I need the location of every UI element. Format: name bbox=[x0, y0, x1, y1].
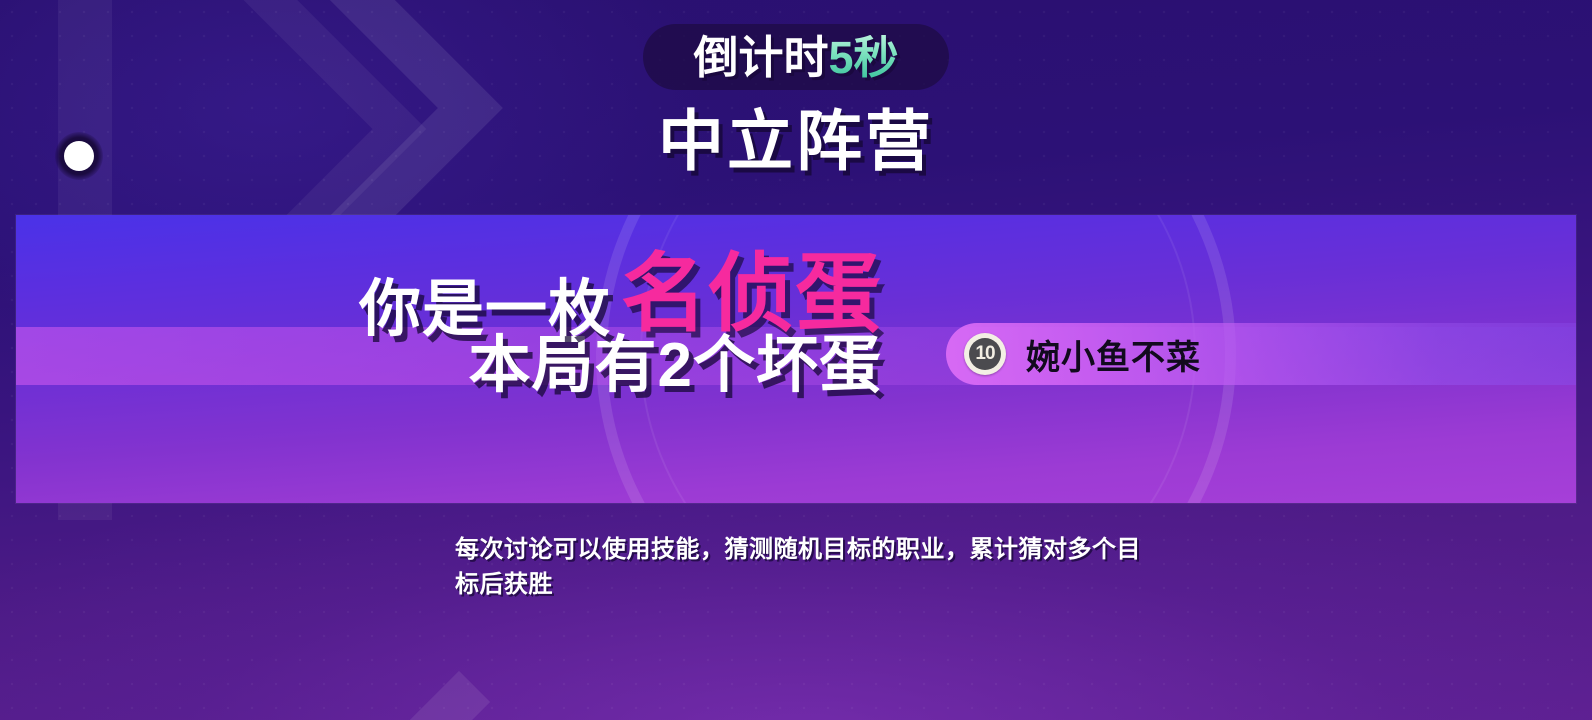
player-name-pill: 10 婉小鱼不菜 bbox=[946, 323, 1576, 385]
screen-root: 倒计时5秒 中立阵营 你是一枚 名侦蛋 本局有2个坏蛋 10 婉小鱼不菜 每次讨… bbox=[0, 0, 1592, 720]
circled-number-icon: 10 bbox=[964, 333, 1006, 375]
role-line-primary: 你是一枚 名侦蛋 bbox=[16, 251, 916, 337]
role-text-block: 你是一枚 名侦蛋 本局有2个坏蛋 bbox=[16, 251, 916, 398]
role-prefix-text: 你是一枚 bbox=[359, 279, 611, 341]
countdown-label: 倒计时 bbox=[693, 35, 828, 80]
role-banner: 你是一枚 名侦蛋 本局有2个坏蛋 10 婉小鱼不菜 bbox=[16, 215, 1576, 503]
player-number: 10 bbox=[969, 338, 1001, 370]
countdown-text: 倒计时5秒 bbox=[693, 35, 898, 80]
camp-title: 中立阵营 bbox=[0, 108, 1592, 174]
player-name: 婉小鱼不菜 bbox=[1026, 330, 1201, 379]
role-name-text: 名侦蛋 bbox=[621, 251, 882, 337]
role-description: 每次讨论可以使用技能，猜测随机目标的职业，累计猜对多个目标后获胜 bbox=[455, 533, 1155, 603]
countdown-pill: 倒计时5秒 bbox=[643, 24, 949, 90]
countdown-value: 5秒 bbox=[828, 35, 898, 80]
chevron-shape-bottom-right bbox=[1153, 523, 1592, 720]
